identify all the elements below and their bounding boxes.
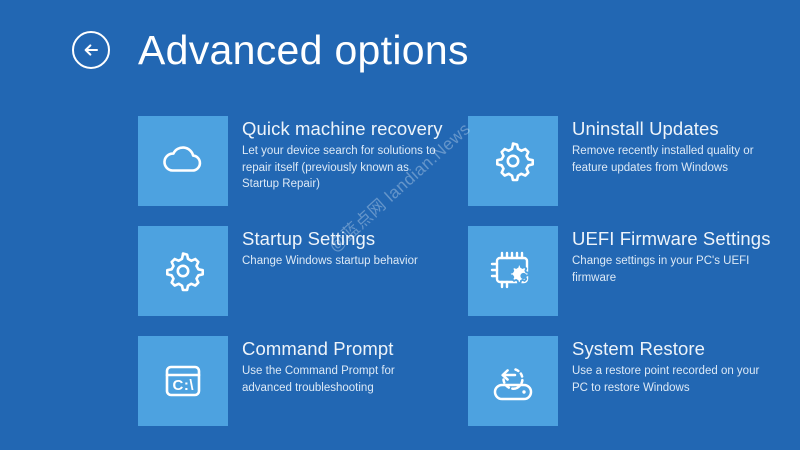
system-restore-disk-icon xyxy=(485,353,541,409)
option-title: Uninstall Updates xyxy=(572,118,777,140)
chip-gear-icon xyxy=(485,243,541,299)
option-text: UEFI Firmware Settings Change settings i… xyxy=(572,226,777,286)
option-tile xyxy=(138,226,228,316)
option-text: System Restore Use a restore point recor… xyxy=(572,336,777,396)
header: Advanced options xyxy=(72,22,469,78)
option-title: Quick machine recovery xyxy=(242,118,447,140)
option-tile xyxy=(468,336,558,426)
option-text: Startup Settings Change Windows startup … xyxy=(242,226,418,270)
option-tile xyxy=(468,226,558,316)
option-description: Let your device search for solutions to … xyxy=(242,143,447,193)
option-description: Remove recently installed quality or fea… xyxy=(572,143,777,176)
option-quick-machine-recovery[interactable]: Quick machine recovery Let your device s… xyxy=(138,116,448,226)
option-title: UEFI Firmware Settings xyxy=(572,228,777,250)
options-grid: Quick machine recovery Let your device s… xyxy=(138,116,778,446)
option-uninstall-updates[interactable]: Uninstall Updates Remove recently instal… xyxy=(468,116,778,226)
back-arrow-icon xyxy=(80,39,102,61)
option-title: Command Prompt xyxy=(242,338,447,360)
option-description: Change settings in your PC's UEFI firmwa… xyxy=(572,253,777,286)
option-title: Startup Settings xyxy=(242,228,418,250)
option-tile: C:\ xyxy=(138,336,228,426)
option-command-prompt[interactable]: C:\ Command Prompt Use the Command Promp… xyxy=(138,336,448,446)
option-description: Use a restore point recorded on your PC … xyxy=(572,363,777,396)
command-prompt-icon: C:\ xyxy=(156,354,210,408)
option-tile xyxy=(468,116,558,206)
option-uefi-firmware-settings[interactable]: UEFI Firmware Settings Change settings i… xyxy=(468,226,778,336)
option-system-restore[interactable]: System Restore Use a restore point recor… xyxy=(468,336,778,446)
page-title: Advanced options xyxy=(138,30,469,71)
advanced-options-screen: Advanced options Quick machine recovery … xyxy=(0,0,800,450)
option-description: Change Windows startup behavior xyxy=(242,253,418,270)
option-title: System Restore xyxy=(572,338,777,360)
gear-icon xyxy=(156,244,210,298)
option-startup-settings[interactable]: Startup Settings Change Windows startup … xyxy=(138,226,448,336)
gear-icon xyxy=(486,134,540,188)
svg-text:C:\: C:\ xyxy=(173,377,195,394)
option-text: Uninstall Updates Remove recently instal… xyxy=(572,116,777,176)
option-text: Command Prompt Use the Command Prompt fo… xyxy=(242,336,447,396)
cloud-icon xyxy=(156,134,210,188)
option-description: Use the Command Prompt for advanced trou… xyxy=(242,363,447,396)
option-text: Quick machine recovery Let your device s… xyxy=(242,116,447,193)
back-button[interactable] xyxy=(72,31,110,69)
option-tile xyxy=(138,116,228,206)
